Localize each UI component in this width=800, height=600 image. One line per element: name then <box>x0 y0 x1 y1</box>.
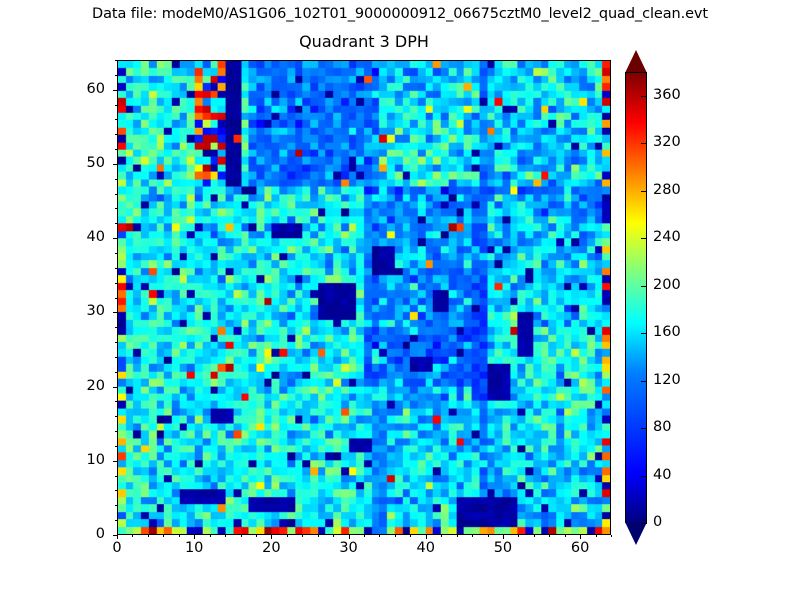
x-minor-tick <box>611 535 612 537</box>
colorbar-gradient <box>625 72 647 523</box>
x-tick-label-40: 40 <box>396 540 456 556</box>
colorbar-tick-280 <box>641 191 647 192</box>
x-minor-tick <box>318 535 319 537</box>
x-minor-tick <box>518 535 519 537</box>
x-tick-label-30: 30 <box>319 540 379 556</box>
x-tick-0 <box>117 535 118 539</box>
x-minor-tick <box>549 535 550 537</box>
y-minor-tick <box>115 105 117 106</box>
y-minor-tick <box>115 75 117 76</box>
y-minor-tick <box>115 194 117 195</box>
y-minor-tick <box>115 446 117 447</box>
colorbar-tick-label-320: 320 <box>653 134 681 150</box>
x-minor-tick <box>565 535 566 537</box>
y-minor-tick <box>115 268 117 269</box>
x-minor-tick <box>287 535 288 537</box>
colorbar-tick-360 <box>641 96 647 97</box>
y-minor-tick <box>115 401 117 402</box>
x-minor-tick <box>302 535 303 537</box>
x-minor-tick <box>132 535 133 537</box>
x-minor-tick <box>441 535 442 537</box>
heatmap-image <box>118 61 610 534</box>
y-tick-10 <box>113 461 117 462</box>
x-tick-40 <box>426 535 427 539</box>
y-minor-tick <box>115 60 117 61</box>
colorbar-tick-320 <box>641 143 647 144</box>
colorbar-tick-label-200: 200 <box>653 277 681 293</box>
data-file-label: Data file: modeM0/AS1G06_102T01_90000009… <box>0 6 800 22</box>
colorbar-tick-80 <box>641 428 647 429</box>
y-tick-50 <box>113 164 117 165</box>
chart-title: Quadrant 3 DPH <box>117 32 611 51</box>
colorbar-tick-120 <box>641 381 647 382</box>
x-minor-tick <box>210 535 211 537</box>
x-tick-30 <box>349 535 350 539</box>
y-minor-tick <box>115 372 117 373</box>
y-minor-tick <box>115 505 117 506</box>
colorbar-tick-0 <box>641 523 647 524</box>
x-tick-20 <box>271 535 272 539</box>
x-tick-10 <box>194 535 195 539</box>
y-minor-tick <box>115 179 117 180</box>
y-tick-label-50: 50 <box>0 155 105 171</box>
x-tick-60 <box>580 535 581 539</box>
y-tick-label-30: 30 <box>0 303 105 319</box>
y-tick-40 <box>113 238 117 239</box>
y-minor-tick <box>115 416 117 417</box>
y-tick-label-40: 40 <box>0 229 105 245</box>
y-tick-60 <box>113 90 117 91</box>
y-minor-tick <box>115 223 117 224</box>
x-minor-tick <box>225 535 226 537</box>
colorbar[interactable] <box>625 60 647 535</box>
x-minor-tick <box>241 535 242 537</box>
x-minor-tick <box>148 535 149 537</box>
y-minor-tick <box>115 298 117 299</box>
x-minor-tick <box>163 535 164 537</box>
colorbar-tick-label-80: 80 <box>653 419 671 435</box>
y-minor-tick <box>115 327 117 328</box>
x-tick-label-20: 20 <box>241 540 301 556</box>
y-tick-20 <box>113 387 117 388</box>
x-minor-tick <box>379 535 380 537</box>
y-tick-30 <box>113 312 117 313</box>
colorbar-tick-label-360: 360 <box>653 87 681 103</box>
colorbar-tick-label-40: 40 <box>653 467 671 483</box>
y-tick-label-60: 60 <box>0 81 105 97</box>
x-tick-label-60: 60 <box>550 540 610 556</box>
x-tick-label-50: 50 <box>473 540 533 556</box>
colorbar-tick-label-0: 0 <box>653 514 662 530</box>
y-minor-tick <box>115 253 117 254</box>
x-minor-tick <box>596 535 597 537</box>
x-minor-tick <box>457 535 458 537</box>
x-minor-tick <box>179 535 180 537</box>
x-minor-tick <box>333 535 334 537</box>
y-minor-tick <box>115 208 117 209</box>
heatmap-axes[interactable] <box>117 60 611 535</box>
figure-canvas: Data file: modeM0/AS1G06_102T01_90000009… <box>0 0 800 600</box>
x-tick-label-10: 10 <box>164 540 224 556</box>
colorbar-tick-240 <box>641 238 647 239</box>
x-minor-tick <box>395 535 396 537</box>
x-minor-tick <box>534 535 535 537</box>
x-tick-50 <box>503 535 504 539</box>
y-minor-tick <box>115 134 117 135</box>
x-tick-label-0: 0 <box>87 540 147 556</box>
x-minor-tick <box>472 535 473 537</box>
y-minor-tick <box>115 342 117 343</box>
y-minor-tick <box>115 119 117 120</box>
colorbar-tick-40 <box>641 476 647 477</box>
x-minor-tick <box>256 535 257 537</box>
colorbar-tick-160 <box>641 333 647 334</box>
colorbar-under-arrow-icon <box>625 522 647 545</box>
y-minor-tick <box>115 520 117 521</box>
x-minor-tick <box>488 535 489 537</box>
y-minor-tick <box>115 357 117 358</box>
y-tick-0 <box>113 535 117 536</box>
y-minor-tick <box>115 283 117 284</box>
x-minor-tick <box>410 535 411 537</box>
colorbar-tick-label-120: 120 <box>653 372 681 388</box>
y-minor-tick <box>115 149 117 150</box>
colorbar-tick-label-240: 240 <box>653 229 681 245</box>
y-tick-label-10: 10 <box>0 452 105 468</box>
colorbar-over-arrow-icon <box>625 50 647 73</box>
x-minor-tick <box>364 535 365 537</box>
colorbar-tick-label-280: 280 <box>653 182 681 198</box>
colorbar-tick-label-160: 160 <box>653 324 681 340</box>
y-minor-tick <box>115 431 117 432</box>
colorbar-tick-200 <box>641 286 647 287</box>
y-minor-tick <box>115 476 117 477</box>
y-minor-tick <box>115 490 117 491</box>
y-tick-label-0: 0 <box>0 526 105 542</box>
y-tick-label-20: 20 <box>0 378 105 394</box>
